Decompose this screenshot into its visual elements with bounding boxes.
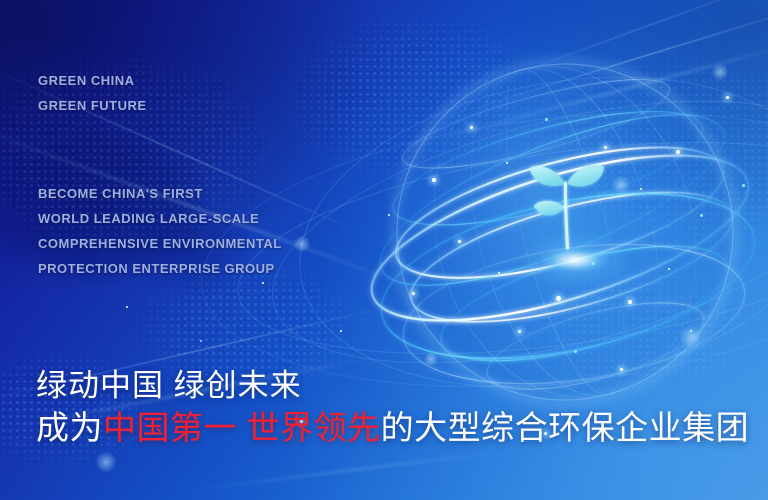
- mission-line-3: COMPREHENSIVE ENVIRONMENTAL: [38, 231, 282, 256]
- headline-line-1: 绿动中国 绿创未来: [36, 366, 749, 406]
- chinese-headline-block: 绿动中国 绿创未来 成为中国第一 世界领先的大型综合环保企业集团: [36, 366, 749, 450]
- text-layer: GREEN CHINA GREEN FUTURE BECOME CHINA'S …: [0, 0, 768, 500]
- tagline-line-2: GREEN FUTURE: [38, 93, 147, 118]
- hero-banner: GREEN CHINA GREEN FUTURE BECOME CHINA'S …: [0, 0, 768, 500]
- tagline-line-1: GREEN CHINA: [38, 68, 147, 93]
- tagline-block: GREEN CHINA GREEN FUTURE: [38, 68, 147, 118]
- headline-highlight: 中国第一 世界领先: [103, 409, 381, 446]
- headline-line-2: 成为中国第一 世界领先的大型综合环保企业集团: [36, 406, 749, 450]
- mission-line-1: BECOME CHINA'S FIRST: [38, 181, 282, 206]
- headline-prefix: 成为: [36, 409, 103, 446]
- mission-line-2: WORLD LEADING LARGE-SCALE: [38, 206, 282, 231]
- mission-statement-block: BECOME CHINA'S FIRST WORLD LEADING LARGE…: [38, 181, 282, 281]
- headline-suffix: 的大型综合环保企业集团: [381, 409, 750, 446]
- mission-line-4: PROTECTION ENTERPRISE GROUP: [38, 256, 282, 281]
